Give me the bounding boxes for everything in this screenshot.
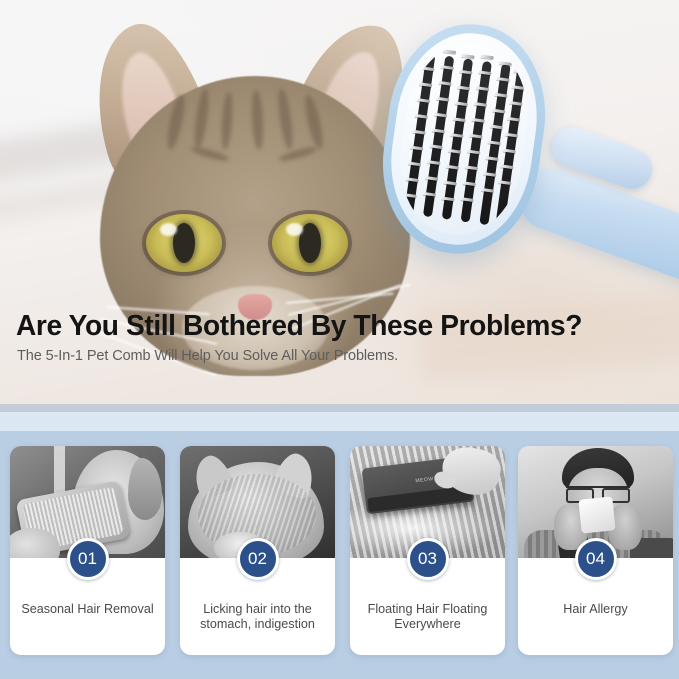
problem-card-04[interactable]: Hair Allergy 04 xyxy=(518,446,673,655)
product-infographic: Are You Still Bothered By These Problems… xyxy=(0,0,679,679)
page-title: Are You Still Bothered By These Problems… xyxy=(16,310,582,343)
comb-head xyxy=(371,14,557,263)
pet-comb-product xyxy=(372,18,679,308)
comb-collar xyxy=(380,24,548,253)
problem-badge-02: 02 xyxy=(237,538,279,580)
cat-eye-glint xyxy=(160,223,177,236)
problem-card-01[interactable]: Seasonal Hair Removal 01 xyxy=(10,446,165,655)
section-band-pale xyxy=(0,412,679,431)
section-divider-line xyxy=(0,404,679,412)
problem-badge-01: 01 xyxy=(67,538,109,580)
problem-label-02: Licking hair into the stomach, indigesti… xyxy=(189,602,326,632)
comb-pin-plate xyxy=(390,35,538,242)
problem-label-03: Floating Hair Floating Everywhere xyxy=(359,602,496,632)
problem-label-04: Hair Allergy xyxy=(527,602,664,617)
comb-handle xyxy=(511,160,679,304)
problem-card-02[interactable]: Licking hair into the stomach, indigesti… xyxy=(180,446,335,655)
problem-card-03[interactable]: MEOW SIX Floating Hair Floating Everywhe… xyxy=(350,446,505,655)
cat-eye-right xyxy=(272,214,348,272)
cat-forehead-stripes xyxy=(160,88,350,184)
problem-card-list: Seasonal Hair Removal 01 Licking hair in… xyxy=(0,446,679,658)
hero-section: Are You Still Bothered By These Problems… xyxy=(0,0,679,405)
problem-badge-04: 04 xyxy=(575,538,617,580)
cat-eye-left xyxy=(146,214,222,272)
problem-badge-03: 03 xyxy=(407,538,449,580)
cat-eye-glint xyxy=(286,223,303,236)
problem-label-01: Seasonal Hair Removal xyxy=(19,602,156,617)
page-subtitle: The 5-In-1 Pet Comb Will Help You Solve … xyxy=(17,348,398,364)
